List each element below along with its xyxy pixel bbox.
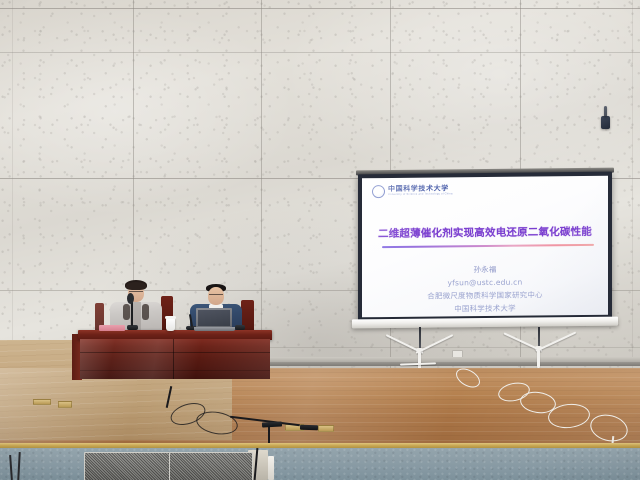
table-reflection [80, 339, 270, 379]
table-groove [80, 352, 270, 353]
wall-grout-line [632, 0, 633, 372]
power-strip[interactable] [300, 425, 318, 431]
speaker-eyeglasses [209, 294, 223, 295]
table-groove [80, 370, 270, 371]
slide-byline-block: 孙永福 yfsun@ustc.edu.cn 合肥微尺度物质科学国家研究中心 中国… [362, 262, 608, 317]
wall-bracket-arm [604, 106, 607, 117]
projector-screen[interactable]: 中国科学技术大学 University of Science and Techn… [358, 172, 612, 323]
ustc-seal-icon: 中国科学技术大学 University of Science and Techn… [372, 184, 453, 198]
moderator-hair-side [142, 304, 149, 320]
tea-cup[interactable] [166, 318, 175, 331]
laptop-base[interactable] [194, 327, 235, 331]
laptop-screen[interactable] [198, 310, 230, 326]
lecture-hall-photo: 中国科学技术大学 University of Science and Techn… [0, 0, 640, 480]
microphone-head-icon [127, 293, 134, 304]
projection-surface: 中国科学技术大学 University of Science and Techn… [362, 176, 608, 318]
floor-brass-plate [58, 401, 72, 408]
microphone-stand [131, 300, 133, 326]
floor-brass-plate [33, 399, 51, 405]
stage-monitor-speaker [169, 452, 253, 480]
ustc-seal-circle [372, 185, 385, 198]
moderator-hair-side [123, 304, 130, 320]
floor-brass-plate [318, 425, 334, 432]
microphone-base[interactable] [235, 325, 245, 330]
floor-stand-pole [268, 456, 274, 480]
tripod-leg-center [537, 350, 540, 368]
slide-title: 二维超薄催化剂实现高效电还原二氧化碳性能 [362, 224, 608, 242]
slide-affiliation-secondary: 中国科学技术大学 [362, 301, 608, 317]
slide-divider-rule [382, 244, 594, 248]
wall-grout-line [0, 8, 640, 9]
stage-monitor-speaker [84, 452, 170, 480]
moderator-eyeglasses [129, 291, 143, 292]
table-seam [173, 339, 174, 379]
wall-grout-line [261, 0, 262, 372]
document-sheet[interactable] [99, 325, 125, 331]
wall-grout-line [12, 0, 13, 372]
wall-grout-line [0, 52, 640, 53]
ustc-logo-english: University of Science and Technology of … [388, 194, 453, 197]
speaker-head [208, 287, 224, 305]
tea-cup-lid[interactable] [165, 316, 176, 319]
moderator-hairline [126, 282, 146, 290]
power-strip[interactable] [262, 421, 282, 427]
wall-speaker-bracket-icon [601, 116, 610, 129]
